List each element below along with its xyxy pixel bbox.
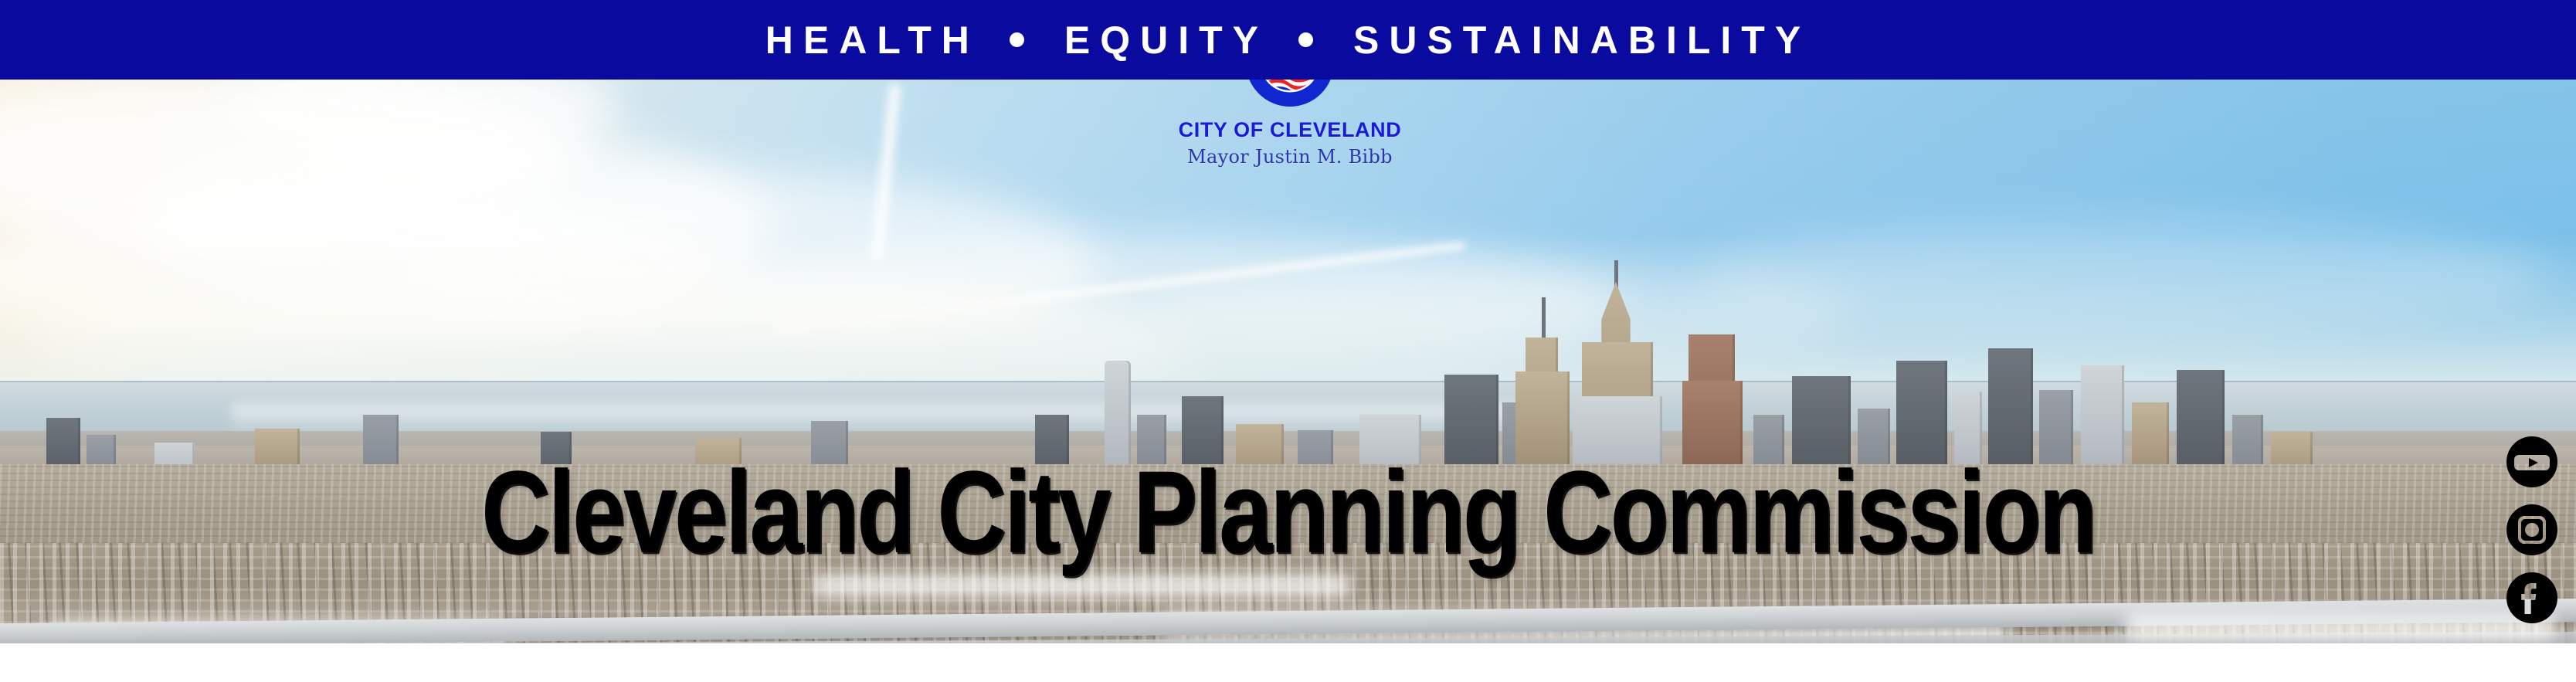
city-name-label: CITY OF CLEVELAND <box>1058 120 1522 141</box>
snow-patch <box>2124 612 2557 640</box>
tagline-word-sustainability: SUSTAINABILITY <box>1353 21 1811 59</box>
page-title: Cleveland City Planning Commission <box>0 454 2576 571</box>
tagline-word-equity: EQUITY <box>1064 21 1268 59</box>
tagline-separator-dot-2 <box>1298 32 1313 47</box>
mayor-name-label: Mayor Justin M. Bibb <box>1058 148 1522 166</box>
instagram-icon[interactable] <box>2506 504 2557 555</box>
youtube-icon[interactable] <box>2506 436 2557 487</box>
tagline-text-group: HEALTH EQUITY SUSTAINABILITY <box>765 21 1811 59</box>
tagline-banner: HEALTH EQUITY SUSTAINABILITY <box>0 0 2576 80</box>
tagline-separator-dot-1 <box>1010 32 1024 47</box>
page-root: HEALTH EQUITY SUSTAINABILITY <box>0 0 2576 682</box>
tagline-word-health: HEALTH <box>765 21 979 59</box>
facebook-icon[interactable] <box>2506 572 2557 623</box>
social-media-links <box>2506 436 2557 623</box>
